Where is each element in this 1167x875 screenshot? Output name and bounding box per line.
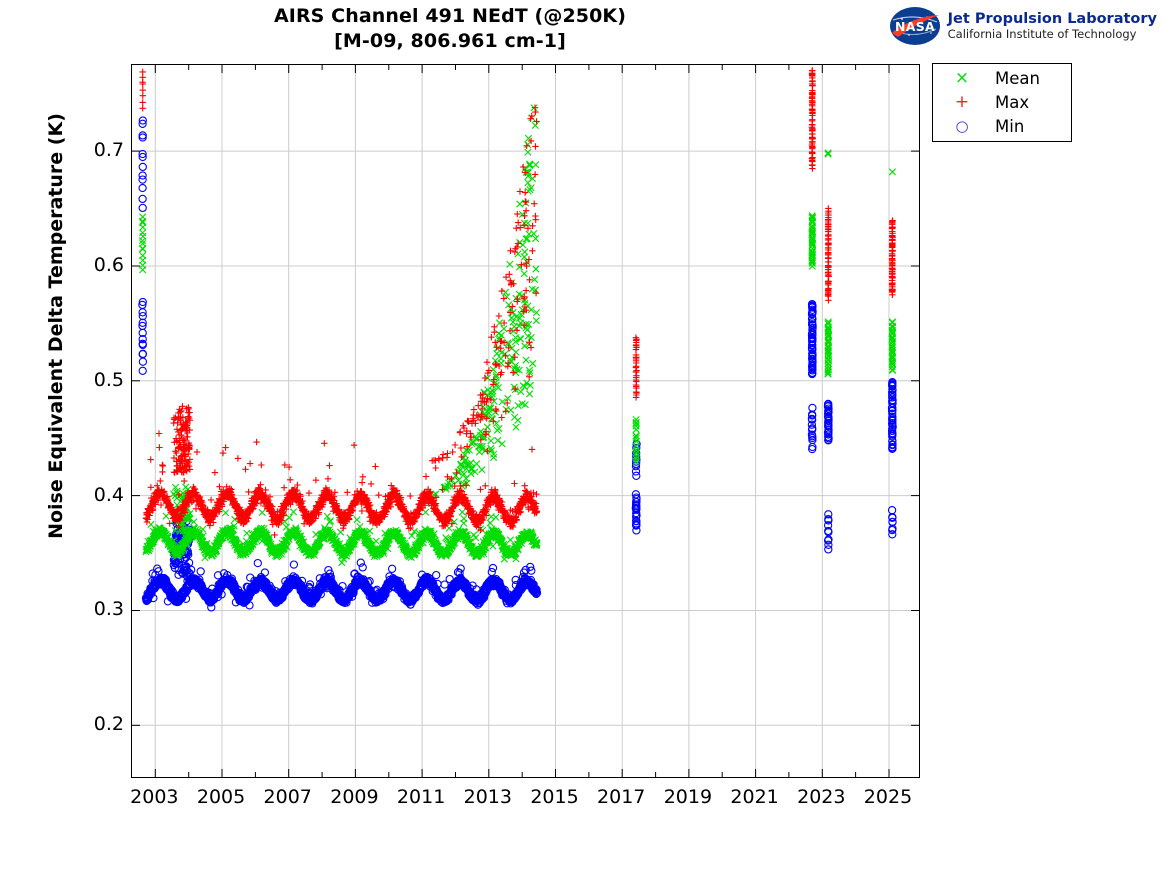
legend-item-max: + Max	[939, 91, 1071, 115]
y-tick-label: 0.4	[64, 484, 124, 506]
plus-icon: +	[939, 94, 985, 111]
nasa-meatball-icon: NASA	[889, 6, 941, 46]
x-tick-label: 2023	[797, 786, 845, 808]
x-axis-tick-labels: 2003200520072009201120132015201720192021…	[131, 786, 920, 816]
legend-item-mean: × Mean	[939, 67, 1071, 91]
y-tick-label: 0.7	[64, 139, 124, 161]
plot-canvas	[132, 65, 919, 777]
chart-title-subtitle: [M-09, 806.961 cm-1]	[0, 29, 900, 54]
y-tick-label: 0.2	[64, 713, 124, 735]
y-tick-label: 0.5	[64, 369, 124, 391]
logo-subtitle: California Institute of Technology	[948, 28, 1157, 41]
x-tick-label: 2011	[397, 786, 445, 808]
circle-icon: ○	[939, 119, 985, 134]
nasa-jpl-logo: NASA Jet Propulsion Laboratory Californi…	[889, 6, 1157, 46]
x-tick-label: 2013	[464, 786, 512, 808]
legend-label-max: Max	[985, 93, 1029, 112]
x-tick-label: 2025	[864, 786, 912, 808]
y-tick-label: 0.3	[64, 598, 124, 620]
x-tick-label: 2015	[530, 786, 578, 808]
chart-title-main: AIRS Channel 491 NEdT (@250K)	[0, 4, 900, 29]
scatter-plot	[131, 64, 920, 778]
legend-label-mean: Mean	[985, 69, 1040, 88]
x-tick-label: 2005	[197, 786, 245, 808]
x-tick-label: 2009	[330, 786, 378, 808]
x-tick-label: 2019	[664, 786, 712, 808]
y-axis-label: Noise Equivalent Delta Temperature (K)	[45, 56, 67, 596]
legend-item-min: ○ Min	[939, 115, 1071, 139]
x-tick-label: 2003	[130, 786, 178, 808]
page-title: AIRS Channel 491 NEdT (@250K) [M-09, 806…	[0, 4, 900, 54]
x-tick-label: 2021	[730, 786, 778, 808]
y-tick-label: 0.6	[64, 254, 124, 276]
logo-title: Jet Propulsion Laboratory	[948, 11, 1157, 27]
x-tick-label: 2007	[264, 786, 312, 808]
cross-x-icon: ×	[939, 70, 985, 87]
legend-label-min: Min	[985, 117, 1024, 136]
x-tick-label: 2017	[597, 786, 645, 808]
chart-legend: × Mean + Max ○ Min	[932, 63, 1072, 142]
svg-text:NASA: NASA	[895, 19, 935, 34]
